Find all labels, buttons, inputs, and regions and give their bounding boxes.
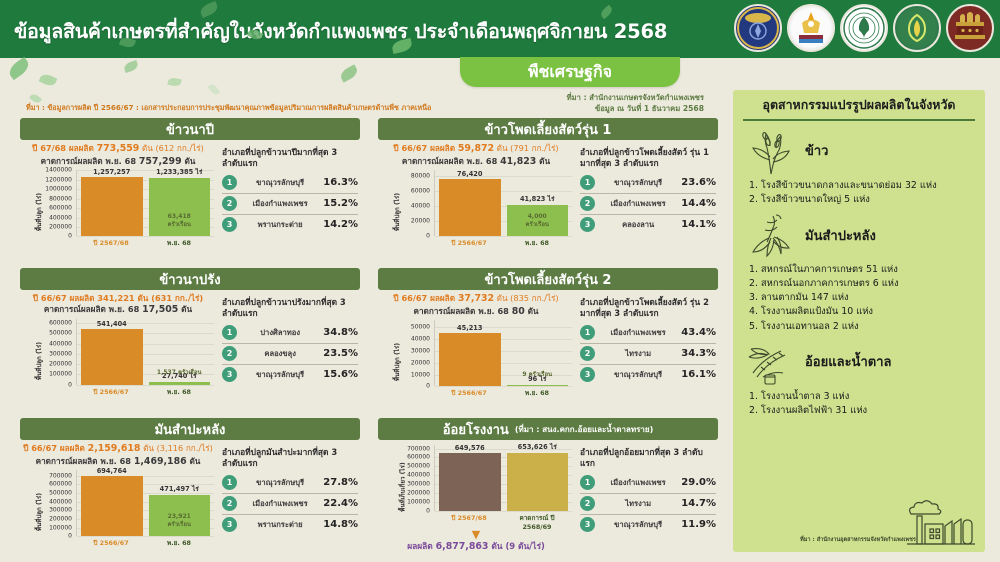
rank-row: 1ขาณุวรลักษบุรี16.3% <box>222 173 358 193</box>
section-title: อ้อยและน้ำตาล <box>805 351 891 372</box>
rank-percentage: 14.2% <box>323 219 358 230</box>
y-tick-label: 100000 <box>49 371 72 378</box>
source-right: ที่มา : สำนักงานเกษตรจังหวัดกำแพงเพชร ข้… <box>567 92 704 114</box>
plot-area: 76,42041,823 ไร่4,000ครัวเรือน <box>434 170 572 236</box>
chart-footer: ▼ผลผลิต 6,877,863 ตัน (9 ตัน/ไร่) <box>378 530 574 553</box>
bar <box>81 476 143 536</box>
emblem-crown-icon <box>946 4 994 52</box>
rank-column: อำเภอที่ปลูกข้าวนาปีมากที่สุด 3 ลำดับแรก… <box>216 143 360 258</box>
card-title-text: ข้าวนาปี <box>166 119 214 140</box>
rank-district-name: พรานกระต่าย <box>242 519 318 531</box>
section-title: มันสำปะหลัง <box>805 225 876 246</box>
leaf-decoration <box>39 72 58 88</box>
sidebar-divider <box>743 119 975 121</box>
plot-area: 45,21396 ไร่9 ครัวเรือน <box>434 320 572 386</box>
x-axis: ปี 2566/67พ.ย. 68 <box>434 388 572 398</box>
rank-district-name: พรานกระต่าย <box>242 219 318 231</box>
bar-chart: พื้นที่ปลูก (ไร่)02000040000600008000076… <box>378 170 574 254</box>
y-tick-label: 800000 <box>49 195 72 202</box>
card-title-bar: ข้าวนาปี <box>20 118 360 140</box>
card-title-bar: มันสำปะหลัง <box>20 418 360 440</box>
y-tick-label: 0 <box>426 383 430 390</box>
y-axis: 020000400006000080000 <box>388 170 432 236</box>
rank-list-heading: อำเภอที่ปลูกอ้อยมากที่สุด 3 ลำดับแรก <box>580 447 716 469</box>
bar-group: 45,213 <box>439 320 501 386</box>
rank-row: 3พรานกระต่าย14.2% <box>222 214 358 235</box>
bar-series: 694,764471,497 ไร่23,921ครัวเรือน <box>77 470 214 536</box>
y-tick-label: 0 <box>68 533 72 540</box>
gridline <box>77 236 214 237</box>
rank-percentage: 43.4% <box>681 327 716 338</box>
rank-percentage: 15.2% <box>323 198 358 209</box>
rank-percentage: 23.5% <box>323 348 358 359</box>
source-right-line2: ข้อมูล ณ วันที่ 1 ธันวาคม 2568 <box>567 103 704 114</box>
total-production-label: ผลผลิต 6,877,863 ตัน (9 ตัน/ไร่) <box>378 539 574 553</box>
rank-district-name: ขาณุวรลักษบุรี <box>600 519 676 531</box>
emblem-royal-icon <box>787 4 835 52</box>
bar-series: 541,40427,740 ไร่1,537 ครัวเรือน <box>77 319 214 385</box>
y-tick-label: 200000 <box>49 223 72 230</box>
bar-group: 27,740 ไร่1,537 ครัวเรือน <box>149 319 211 385</box>
bar <box>439 333 501 386</box>
plot-area: 541,40427,740 ไร่1,537 ครัวเรือน <box>76 319 214 385</box>
y-tick-label: 600000 <box>49 319 72 326</box>
rank-percentage: 14.1% <box>681 219 716 230</box>
bar-value-label: 41,823 ไร่ <box>507 193 569 204</box>
rank-column: อำเภอที่ปลูกข้าวโพดเลี้ยงสัตว์ รุ่น 2 มา… <box>574 293 718 408</box>
y-axis: 01000020000300004000050000 <box>388 320 432 386</box>
list-item: 1. สหกรณ์ในภาคการเกษตร 51 แห่ง <box>749 263 975 277</box>
chart-column: ปี 66/67 ผลผลิต 2,159,618 ตัน (3,116 กก.… <box>20 443 216 558</box>
bar-value-label: 45,213 <box>439 324 501 332</box>
bar-chart: พื้นที่ปลูก (ไร่)01000002000003000004000… <box>20 470 216 554</box>
crop-card: ข้าวโพดเลี้ยงสัตว์รุ่น 2ปี 66/67 ผลผลิต … <box>378 268 718 408</box>
industry-sidebar: อุตสาหกรรมแปรรูปผลผลิตในจังหวัด ข้าว1. โ… <box>733 90 985 552</box>
y-tick-label: 700000 <box>49 472 72 479</box>
list-item: 3. ลานตากมัน 147 แห่ง <box>749 291 975 305</box>
sugarcane-icon <box>743 337 799 387</box>
rank-row: 1ขาณุวรลักษบุรี27.8% <box>222 473 358 493</box>
bar <box>439 179 501 236</box>
rank-row: 2เมืองกำแพงเพชร14.4% <box>580 193 716 214</box>
x-tick-label: พ.ย. 68 <box>148 238 210 248</box>
y-tick-label: 1400000 <box>45 167 72 174</box>
bar-value-label: 649,576 <box>439 444 501 452</box>
card-body: ปี 66/67 ผลผลิต 37,732 ตัน (835 กก./ไร่)… <box>378 290 718 408</box>
card-body: ปี 67/68 ผลผลิต 773,559 ตัน (612 กก./ไร่… <box>20 140 360 258</box>
y-tick-label: 1200000 <box>45 176 72 183</box>
cassava-plant-icon <box>743 210 799 260</box>
card-title-bar: อ้อยโรงงาน(ที่มา : สนง.คกก.อ้อยและน้ำตาล… <box>378 418 718 440</box>
y-tick-label: 40000 <box>411 336 430 343</box>
rank-percentage: 34.3% <box>681 348 716 359</box>
rank-row: 1ขาณุวรลักษบุรี23.6% <box>580 173 716 193</box>
stat-line-primary: ปี 66/67 ผลผลิต 341,221 ตัน (631 กก./ไร่… <box>20 293 216 304</box>
y-tick-label: 500000 <box>407 463 430 470</box>
page-header: ข้อมูลสินค้าเกษตรที่สำคัญในจังหวัดกำแพงเ… <box>0 0 1000 58</box>
rank-row: 3คลองลาน14.1% <box>580 214 716 235</box>
rank-badge: 1 <box>222 475 237 490</box>
x-tick-label: ปี 2566/67 <box>80 387 142 397</box>
gridline <box>77 536 214 537</box>
y-axis: 0100000200000300000400000500000600000700… <box>30 470 74 536</box>
bar-inner-label: 1,537 ครัวเรือน <box>149 369 211 377</box>
bar-group: 1,233,385 ไร่63,418ครัวเรือน <box>149 170 211 236</box>
y-tick-label: 400000 <box>49 340 72 347</box>
x-tick-label: คาดการณ์ ปี 2568/69 <box>506 513 568 531</box>
rice-plant-icon <box>743 126 799 176</box>
section-title: ข้าว <box>805 140 829 161</box>
rank-district-name: ขาณุวรลักษบุรี <box>600 177 676 189</box>
rank-badge: 2 <box>580 346 595 361</box>
card-body: ปี 66/67 ผลผลิต 59,872 ตัน (791 กก./ไร่)… <box>378 140 718 258</box>
rank-list-heading: อำเภอที่ปลูกข้าวนาปีมากที่สุด 3 ลำดับแรก <box>222 147 358 169</box>
sidebar-section: อ้อยและน้ำตาล1. โรงงานน้ำตาล 3 แห่ง2. โร… <box>743 336 975 418</box>
y-tick-label: 700000 <box>407 445 430 452</box>
emblem-ministry-icon <box>734 4 782 52</box>
rank-column: อำเภอที่ปลูกข้าวโพดเลี้ยงสัตว์ รุ่น 1 มา… <box>574 143 718 258</box>
sidebar-section: มันสำปะหลัง1. สหกรณ์ในภาคการเกษตร 51 แห่… <box>743 209 975 334</box>
x-tick-label: ปี 2566/67 <box>438 388 500 398</box>
card-title-text: มันสำปะหลัง <box>155 419 226 440</box>
plot-area: 694,764471,497 ไร่23,921ครัวเรือน <box>76 470 214 536</box>
list-item: 2. โรงงานผลิตไฟฟ้า 31 แห่ง <box>749 404 975 418</box>
card-title-bar: ข้าวโพดเลี้ยงสัตว์รุ่น 1 <box>378 118 718 140</box>
card-body: ปี 66/67 ผลผลิต 341,221 ตัน (631 กก./ไร่… <box>20 290 360 408</box>
rank-percentage: 22.4% <box>323 498 358 509</box>
rank-list-heading: อำเภอที่ปลูกมันสำปะมากที่สุด 3 ลำดับแรก <box>222 447 358 469</box>
y-axis: 0100000200000300000400000500000600000700… <box>388 445 432 511</box>
y-tick-label: 300000 <box>49 350 72 357</box>
chart-column: พื้นที่เก็บเกี่ยว (ไร่)01000002000003000… <box>378 443 574 558</box>
rank-district-name: เมืองกำแพงเพชร <box>600 477 676 489</box>
x-axis: ปี 2567/68พ.ย. 68 <box>76 238 214 248</box>
y-tick-label: 40000 <box>411 203 430 210</box>
card-title-text: ข้าวโพดเลี้ยงสัตว์รุ่น 2 <box>485 269 612 290</box>
rank-row: 3ขาณุวรลักษบุรี16.1% <box>580 364 716 385</box>
emblem-garuda-icon <box>840 4 888 52</box>
bar-group: 649,576 <box>439 445 501 511</box>
bar-series: 1,257,2571,233,385 ไร่63,418ครัวเรือน <box>77 170 214 236</box>
rank-percentage: 14.7% <box>681 498 716 509</box>
card-title-text: อ้อยโรงงาน <box>443 419 509 440</box>
bar-value-label: 471,497 ไร่ <box>149 483 211 494</box>
x-axis: ปี 2566/67พ.ย. 68 <box>76 387 214 397</box>
emblem-province-icon <box>893 4 941 52</box>
leaf-decoration <box>338 64 359 82</box>
rank-row: 2คลองขลุง23.5% <box>222 343 358 364</box>
y-tick-label: 100000 <box>49 524 72 531</box>
bar <box>81 329 143 385</box>
rank-percentage: 34.8% <box>323 327 358 338</box>
y-tick-label: 0 <box>68 233 72 240</box>
card-title-bar: ข้าวนาปรัง <box>20 268 360 290</box>
bar-group: 694,764 <box>81 470 143 536</box>
bar-value-label: 1,233,385 ไร่ <box>149 166 211 177</box>
rank-column: อำเภอที่ปลูกมันสำปะมากที่สุด 3 ลำดับแรก1… <box>216 443 360 558</box>
y-tick-label: 300000 <box>49 507 72 514</box>
rank-district-name: ขาณุวรลักษบุรี <box>242 477 318 489</box>
rank-district-name: เมืองกำแพงเพชร <box>242 198 318 210</box>
x-axis: ปี 2566/67พ.ย. 68 <box>76 538 214 548</box>
x-tick-label: ปี 2566/67 <box>438 238 500 248</box>
bar-series: 649,576653,626 ไร่ <box>435 445 572 511</box>
list-item: 1. โรงสีข้าวขนาดกลางและขนาดย่อม 32 แห่ง <box>749 179 975 193</box>
bar-inner-label: 23,921ครัวเรือน <box>149 513 211 528</box>
bar-group: 76,420 <box>439 170 501 236</box>
bar: 1,537 ครัวเรือน <box>149 382 211 385</box>
x-tick-label: ปี 2567/68 <box>438 513 500 531</box>
rank-list-heading: อำเภอที่ปลูกข้าวนาปรังมากที่สุด 3 ลำดับแ… <box>222 297 358 319</box>
section-header: อ้อยและน้ำตาล <box>743 336 975 388</box>
bar-value-label: 653,626 ไร่ <box>507 441 569 452</box>
rank-district-name: ไทรงาม <box>600 348 676 360</box>
bar-group: 96 ไร่9 ครัวเรือน <box>507 320 569 386</box>
rank-district-name: ไทรงาม <box>600 498 676 510</box>
y-tick-label: 30000 <box>411 348 430 355</box>
bar-chart: พื้นที่ปลูก (ไร่)02000004000006000008000… <box>20 170 216 254</box>
section-list: 1. โรงงานน้ำตาล 3 แห่ง2. โรงงานผลิตไฟฟ้า… <box>749 390 975 418</box>
rank-district-name: คลองลาน <box>600 219 676 231</box>
rank-badge: 3 <box>580 367 595 382</box>
rank-district-name: เมืองกำแพงเพชร <box>242 498 318 510</box>
list-item: 4. โรงงานผลิตแป้งมัน 10 แห่ง <box>749 305 975 319</box>
card-title-text: ข้าวนาปรัง <box>159 269 220 290</box>
y-tick-label: 60000 <box>411 188 430 195</box>
bar <box>81 177 143 236</box>
stat-line-primary: ปี 66/67 ผลผลิต 2,159,618 ตัน (3,116 กก.… <box>20 443 216 456</box>
rank-badge: 2 <box>222 496 237 511</box>
logo-row <box>734 4 994 52</box>
stat-line-primary: ปี 66/67 ผลผลิต 37,732 ตัน (835 กก./ไร่) <box>378 293 574 306</box>
rank-percentage: 14.4% <box>681 198 716 209</box>
rank-badge: 3 <box>580 517 595 532</box>
x-tick-label: พ.ย. 68 <box>148 538 210 548</box>
rank-badge: 2 <box>222 346 237 361</box>
y-tick-label: 600000 <box>49 481 72 488</box>
bar-inner-label: 63,418ครัวเรือน <box>149 213 211 228</box>
source-left: ที่มา : ข้อมูลการผลิต ปี 2566/67 : เอกสา… <box>26 103 431 114</box>
y-tick-label: 200000 <box>407 490 430 497</box>
rank-badge: 1 <box>580 175 595 190</box>
x-tick-label: ปี 2567/68 <box>80 238 142 248</box>
rank-badge: 2 <box>222 196 237 211</box>
y-tick-label: 400000 <box>49 214 72 221</box>
bar-series: 45,21396 ไร่9 ครัวเรือน <box>435 320 572 386</box>
leaf-decoration <box>208 83 221 97</box>
bar-chart: พื้นที่เก็บเกี่ยว (ไร่)01000002000003000… <box>378 445 574 529</box>
gridline <box>435 236 572 237</box>
crop-card: อ้อยโรงงาน(ที่มา : สนง.คกก.อ้อยและน้ำตาล… <box>378 418 718 558</box>
rank-badge: 2 <box>580 496 595 511</box>
rank-percentage: 27.8% <box>323 477 358 488</box>
bar-group: 41,823 ไร่4,000ครัวเรือน <box>507 170 569 236</box>
section-list: 1. สหกรณ์ในภาคการเกษตร 51 แห่ง2. สหกรณ์น… <box>749 263 975 334</box>
rank-row: 3ขาณุวรลักษบุรี11.9% <box>580 514 716 535</box>
bar <box>439 453 501 511</box>
plot-area: 1,257,2571,233,385 ไร่63,418ครัวเรือน <box>76 170 214 236</box>
stat-line-primary: ปี 66/67 ผลผลิต 59,872 ตัน (791 กก./ไร่) <box>378 143 574 156</box>
gridline <box>435 511 572 512</box>
list-item: 1. โรงงานน้ำตาล 3 แห่ง <box>749 390 975 404</box>
y-tick-label: 10000 <box>411 371 430 378</box>
leaf-decoration <box>6 57 31 80</box>
rank-district-name: เมืองกำแพงเพชร <box>600 327 676 339</box>
rank-percentage: 11.9% <box>681 519 716 530</box>
rank-percentage: 29.0% <box>681 477 716 488</box>
list-item: 2. โรงสีข้าวขนาดใหญ่ 5 แห่ง <box>749 193 975 207</box>
plot-area: 649,576653,626 ไร่ <box>434 445 572 511</box>
rank-percentage: 23.6% <box>681 177 716 188</box>
chart-column: ปี 66/67 ผลผลิต 59,872 ตัน (791 กก./ไร่)… <box>378 143 574 258</box>
rank-badge: 3 <box>222 367 237 382</box>
rank-percentage: 15.6% <box>323 369 358 380</box>
bar: 9 ครัวเรือน <box>507 385 569 387</box>
rank-district-name: ขาณุวรลักษบุรี <box>600 369 676 381</box>
x-tick-label: ปี 2566/67 <box>80 538 142 548</box>
card-body: ปี 66/67 ผลผลิต 2,159,618 ตัน (3,116 กก.… <box>20 440 360 558</box>
leaf-decoration <box>167 77 181 88</box>
y-tick-label: 200000 <box>49 516 72 523</box>
rank-badge: 3 <box>222 517 237 532</box>
section-list: 1. โรงสีข้าวขนาดกลางและขนาดย่อม 32 แห่ง2… <box>749 179 975 207</box>
sidebar-title: อุตสาหกรรมแปรรูปผลผลิตในจังหวัด <box>743 98 975 113</box>
y-tick-label: 80000 <box>411 173 430 180</box>
bar <box>507 453 569 511</box>
chart-column: ปี 66/67 ผลผลิต 37,732 ตัน (835 กก./ไร่)… <box>378 293 574 408</box>
gridline <box>77 385 214 386</box>
bar-group: 653,626 ไร่ <box>507 445 569 511</box>
y-tick-label: 500000 <box>49 330 72 337</box>
crop-card: มันสำปะหลังปี 66/67 ผลผลิต 2,159,618 ตัน… <box>20 418 360 558</box>
y-tick-label: 50000 <box>411 324 430 331</box>
rice-plant-icon <box>743 126 799 176</box>
bar-value-label: 694,764 <box>81 467 143 475</box>
rank-row: 2เมืองกำแพงเพชร22.4% <box>222 493 358 514</box>
rank-badge: 3 <box>580 217 595 232</box>
bar: 4,000ครัวเรือน <box>507 205 569 236</box>
card-title-text: ข้าวโพดเลี้ยงสัตว์รุ่น 1 <box>485 119 612 140</box>
x-axis: ปี 2566/67พ.ย. 68 <box>434 238 572 248</box>
bar: 63,418ครัวเรือน <box>149 178 211 236</box>
x-tick-label: พ.ย. 68 <box>506 388 568 398</box>
x-axis: ปี 2567/68คาดการณ์ ปี 2568/69 <box>434 513 572 531</box>
y-tick-label: 400000 <box>49 498 72 505</box>
bar-group: 1,257,257 <box>81 170 143 236</box>
y-tick-label: 200000 <box>49 361 72 368</box>
rank-badge: 1 <box>580 475 595 490</box>
y-tick-label: 300000 <box>407 481 430 488</box>
gridline <box>435 386 572 387</box>
sidebar-source: ที่มา : สำนักงานอุตสาหกรรมจังหวัดกำแพงเพ… <box>743 536 973 544</box>
rank-badge: 3 <box>222 217 237 232</box>
list-item: 2. สหกรณ์นอกภาคการเกษตร 6 แห่ง <box>749 277 975 291</box>
rank-district-name: ปางศิลาทอง <box>242 327 318 339</box>
rank-badge: 1 <box>222 325 237 340</box>
rank-district-name: ขาณุวรลักษบุรี <box>242 177 318 189</box>
cassava-plant-icon <box>743 210 799 260</box>
bar: 23,921ครัวเรือน <box>149 495 211 536</box>
bar-value-label: 76,420 <box>439 170 501 178</box>
rank-badge: 1 <box>580 325 595 340</box>
bar-value-label: 541,404 <box>81 320 143 328</box>
rank-percentage: 16.3% <box>323 177 358 188</box>
rank-row: 2ไทรงาม14.7% <box>580 493 716 514</box>
sidebar-section: ข้าว1. โรงสีข้าวขนาดกลางและขนาดย่อม 32 แ… <box>743 125 975 207</box>
y-tick-label: 600000 <box>49 205 72 212</box>
y-tick-label: 100000 <box>407 499 430 506</box>
rank-row: 1ปางศิลาทอง34.8% <box>222 323 358 343</box>
rank-column: อำเภอที่ปลูกอ้อยมากที่สุด 3 ลำดับแรก1เมื… <box>574 443 718 558</box>
y-tick-label: 600000 <box>407 454 430 461</box>
rank-row: 1เมืองกำแพงเพชร29.0% <box>580 473 716 493</box>
stat-line-forecast: คาดการณ์ผลผลิต พ.ย. 68 80 ตัน <box>378 306 574 319</box>
crop-card: ข้าวนาปรังปี 66/67 ผลผลิต 341,221 ตัน (6… <box>20 268 360 408</box>
y-tick-label: 0 <box>68 381 72 388</box>
x-tick-label: พ.ย. 68 <box>148 387 210 397</box>
y-axis: 0100000200000300000400000500000600000 <box>30 319 74 385</box>
y-tick-label: 400000 <box>407 472 430 479</box>
crop-card: ข้าวนาปีปี 67/68 ผลผลิต 773,559 ตัน (612… <box>20 118 360 258</box>
crop-card: ข้าวโพดเลี้ยงสัตว์รุ่น 1ปี 66/67 ผลผลิต … <box>378 118 718 258</box>
card-body: พื้นที่เก็บเกี่ยว (ไร่)01000002000003000… <box>378 440 718 558</box>
rank-list-heading: อำเภอที่ปลูกข้าวโพดเลี้ยงสัตว์ รุ่น 2 มา… <box>580 297 716 319</box>
bar-series: 76,42041,823 ไร่4,000ครัวเรือน <box>435 170 572 236</box>
rank-row: 3ขาณุวรลักษบุรี15.6% <box>222 364 358 385</box>
bar-chart: พื้นที่ปลูก (ไร่)01000002000003000004000… <box>20 319 216 403</box>
leaf-decoration <box>123 60 139 73</box>
rank-row: 2เมืองกำแพงเพชร15.2% <box>222 193 358 214</box>
y-axis: 0200000400000600000800000100000012000001… <box>30 170 74 236</box>
y-tick-label: 20000 <box>411 359 430 366</box>
down-arrow-icon: ▼ <box>378 530 574 539</box>
stat-line-forecast: คาดการณ์ผลผลิต พ.ย. 68 41,823 ตัน <box>378 156 574 169</box>
y-tick-label: 1000000 <box>45 186 72 193</box>
rank-district-name: เมืองกำแพงเพชร <box>600 198 676 210</box>
source-right-line1: ที่มา : สำนักงานเกษตรจังหวัดกำแพงเพชร <box>567 92 704 103</box>
list-item: 5. โรงงานเอทานอล 2 แห่ง <box>749 320 975 334</box>
bar-group: 471,497 ไร่23,921ครัวเรือน <box>149 470 211 536</box>
stat-line-primary: ปี 67/68 ผลผลิต 773,559 ตัน (612 กก./ไร่… <box>20 143 216 156</box>
y-tick-label: 0 <box>426 508 430 515</box>
bar-inner-label: 9 ครัวเรือน <box>507 371 569 379</box>
rank-list-heading: อำเภอที่ปลูกข้าวโพดเลี้ยงสัตว์ รุ่น 1 มา… <box>580 147 716 169</box>
rank-district-name: คลองขลุง <box>242 348 318 360</box>
y-tick-label: 500000 <box>49 489 72 496</box>
chart-column: ปี 67/68 ผลผลิต 773,559 ตัน (612 กก./ไร่… <box>20 143 216 258</box>
crop-card-grid: ข้าวนาปีปี 67/68 ผลผลิต 773,559 ตัน (612… <box>20 118 720 554</box>
page-title: ข้อมูลสินค้าเกษตรที่สำคัญในจังหวัดกำแพงเ… <box>14 16 667 47</box>
y-tick-label: 20000 <box>411 218 430 225</box>
bar-group: 541,404 <box>81 319 143 385</box>
rank-row: 3พรานกระต่าย14.8% <box>222 514 358 535</box>
card-title-bar: ข้าวโพดเลี้ยงสัตว์รุ่น 2 <box>378 268 718 290</box>
sugarcane-icon <box>743 337 799 387</box>
card-subtitle: (ที่มา : สนง.คกก.อ้อยและน้ำตาลทราย) <box>515 423 653 436</box>
y-tick-label: 0 <box>426 233 430 240</box>
rank-badge: 2 <box>580 196 595 211</box>
rank-row: 2ไทรงาม34.3% <box>580 343 716 364</box>
bar-value-label: 1,257,257 <box>81 168 143 176</box>
rank-column: อำเภอที่ปลูกข้าวนาปรังมากที่สุด 3 ลำดับแ… <box>216 293 360 408</box>
rank-row: 1เมืองกำแพงเพชร43.4% <box>580 323 716 343</box>
rank-badge: 1 <box>222 175 237 190</box>
section-header: มันสำปะหลัง <box>743 209 975 261</box>
x-tick-label: พ.ย. 68 <box>506 238 568 248</box>
banner-pill: พืชเศรษฐกิจ <box>460 57 680 87</box>
rank-district-name: ขาณุวรลักษบุรี <box>242 369 318 381</box>
rank-percentage: 14.8% <box>323 519 358 530</box>
